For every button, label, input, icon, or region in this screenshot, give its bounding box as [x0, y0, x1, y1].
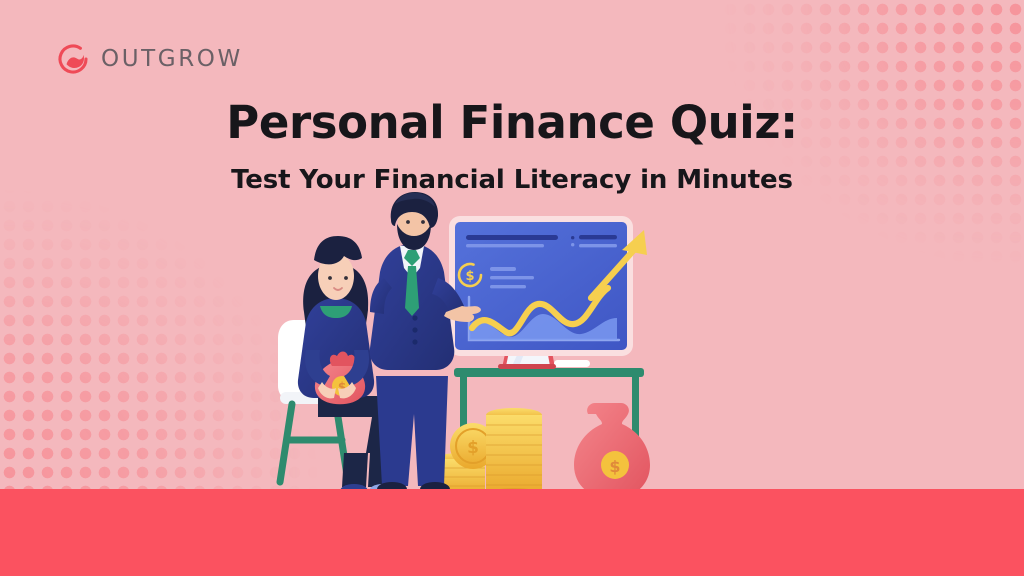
outgrow-circle-mark-icon — [56, 42, 90, 76]
presentation-board: $ — [449, 216, 647, 356]
banner-root: OUTGROW Personal Finance Quiz: Test Your… — [0, 0, 1024, 576]
page-title: Personal Finance Quiz: — [0, 96, 1024, 149]
coin-stacks: $ — [435, 408, 542, 502]
svg-text:$: $ — [609, 457, 620, 476]
outgrow-logo[interactable]: OUTGROW — [56, 42, 243, 76]
bottom-accent-bar — [0, 489, 1024, 576]
svg-text:$: $ — [465, 269, 474, 284]
page-subtitle: Test Your Financial Literacy in Minutes — [0, 165, 1024, 195]
finance-presentation-illustration: $ — [258, 200, 688, 510]
svg-text:$: $ — [467, 438, 479, 458]
heading-block: Personal Finance Quiz: Test Your Financi… — [0, 96, 1024, 195]
outgrow-wordmark: OUTGROW — [101, 46, 243, 72]
